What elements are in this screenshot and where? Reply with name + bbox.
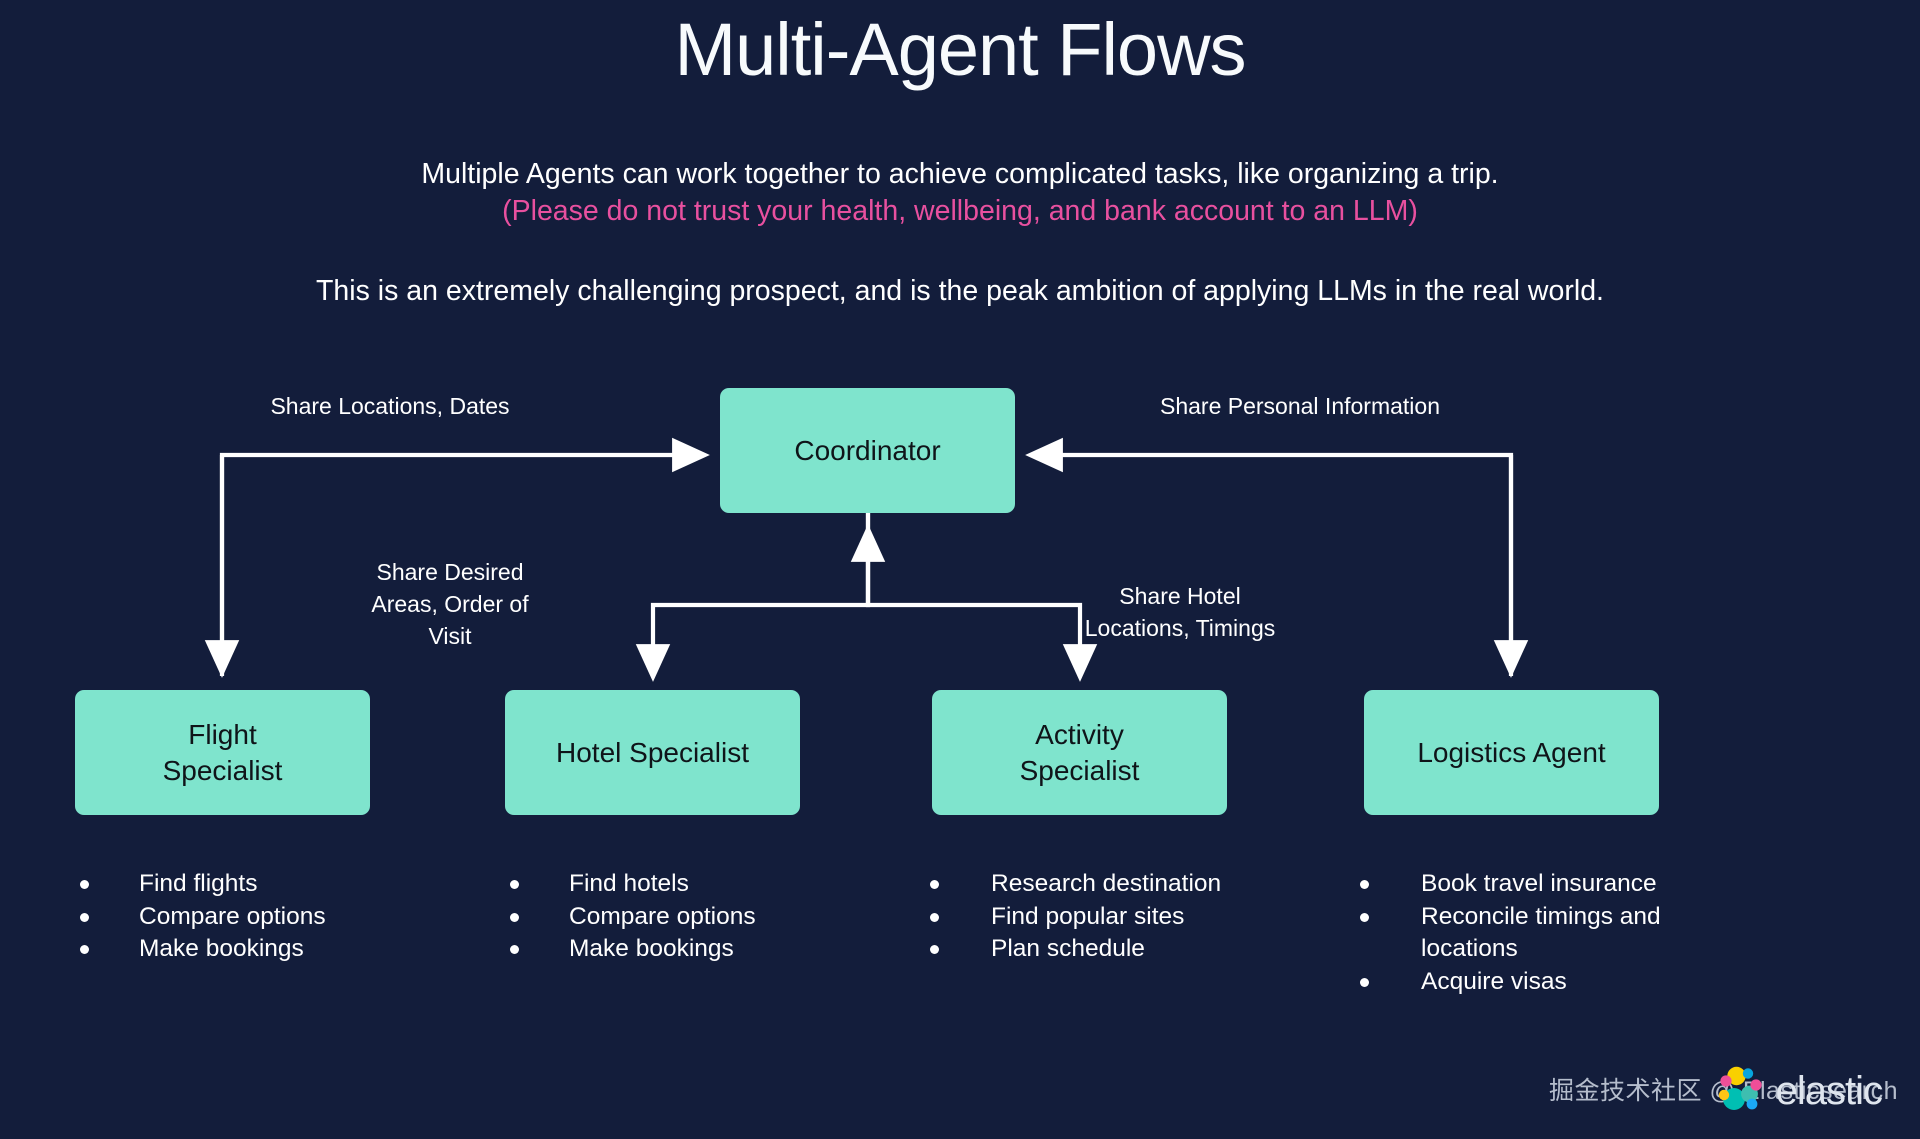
- list-item: Acquire visas: [1360, 966, 1720, 999]
- list-item: Research destination: [930, 868, 1290, 901]
- node-activity-specialist[interactable]: Activity Specialist: [932, 690, 1227, 815]
- edge-label-share-desired-areas: Share Desired Areas, Order of Visit: [290, 556, 610, 652]
- list-item: Make bookings: [510, 933, 850, 966]
- bullet-icon: [1360, 978, 1369, 987]
- bullet-icon: [510, 880, 519, 889]
- bullet-icon: [80, 913, 89, 922]
- bullet-icon: [930, 945, 939, 954]
- list-item: Plan schedule: [930, 933, 1290, 966]
- list-item-label: Compare options: [139, 901, 326, 934]
- list-item: Compare options: [80, 901, 420, 934]
- capability-list-activity: Research destination Find popular sites …: [930, 868, 1290, 966]
- capability-list-hotel: Find hotels Compare options Make booking…: [510, 868, 850, 966]
- edge-label-share-locations-dates: Share Locations, Dates: [180, 390, 600, 422]
- list-item-label: Research destination: [991, 868, 1221, 901]
- node-logistics-agent[interactable]: Logistics Agent: [1364, 690, 1659, 815]
- elastic-mark-icon: [1716, 1065, 1772, 1117]
- list-item-label: Find hotels: [569, 868, 689, 901]
- bullet-icon: [930, 880, 939, 889]
- list-item: Make bookings: [80, 933, 420, 966]
- list-item-label: Find popular sites: [991, 901, 1184, 934]
- capability-list-flight: Find flights Compare options Make bookin…: [80, 868, 420, 966]
- node-flight-specialist-label: Flight Specialist: [163, 717, 283, 789]
- list-item: Find hotels: [510, 868, 850, 901]
- bullet-icon: [1360, 913, 1369, 922]
- list-item-label: Book travel insurance: [1421, 868, 1657, 901]
- bullet-icon: [930, 913, 939, 922]
- slide-root: Multi-Agent Flows Multiple Agents can wo…: [0, 0, 1920, 1139]
- list-item: Find popular sites: [930, 901, 1290, 934]
- list-item: Find flights: [80, 868, 420, 901]
- node-activity-specialist-label: Activity Specialist: [1020, 717, 1140, 789]
- bullet-icon: [80, 880, 89, 889]
- list-item-label: Find flights: [139, 868, 257, 901]
- bullet-icon: [510, 945, 519, 954]
- bullet-icon: [510, 913, 519, 922]
- page-title: Multi-Agent Flows: [0, 2, 1920, 98]
- list-item: Compare options: [510, 901, 850, 934]
- subtitle-line-3: This is an extremely challenging prospec…: [0, 272, 1920, 310]
- list-item-label: Acquire visas: [1421, 966, 1567, 999]
- node-coordinator[interactable]: Coordinator: [720, 388, 1015, 513]
- node-logistics-agent-label: Logistics Agent: [1417, 735, 1605, 771]
- node-flight-specialist[interactable]: Flight Specialist: [75, 690, 370, 815]
- elastic-logo: elastic: [1716, 1063, 1882, 1119]
- node-hotel-specialist[interactable]: Hotel Specialist: [505, 690, 800, 815]
- subtitle-line-1: Multiple Agents can work together to ach…: [0, 155, 1920, 193]
- capability-list-logistics: Book travel insurance Reconcile timings …: [1360, 868, 1720, 998]
- bullet-icon: [80, 945, 89, 954]
- elastic-wordmark: elastic: [1776, 1069, 1882, 1113]
- list-item: Book travel insurance: [1360, 868, 1720, 901]
- list-item-label: Make bookings: [139, 933, 304, 966]
- node-hotel-specialist-label: Hotel Specialist: [556, 735, 749, 771]
- edge-label-share-personal-information: Share Personal Information: [1060, 390, 1540, 422]
- list-item-label: Make bookings: [569, 933, 734, 966]
- list-item-label: Reconcile timings and locations: [1421, 901, 1720, 966]
- list-item-label: Compare options: [569, 901, 756, 934]
- list-item-label: Plan schedule: [991, 933, 1145, 966]
- bullet-icon: [1360, 880, 1369, 889]
- node-coordinator-label: Coordinator: [794, 433, 940, 469]
- subtitle-warning-line: (Please do not trust your health, wellbe…: [0, 192, 1920, 230]
- edge-label-share-hotel-locations: Share Hotel Locations, Timings: [1020, 580, 1340, 644]
- list-item: Reconcile timings and locations: [1360, 901, 1720, 966]
